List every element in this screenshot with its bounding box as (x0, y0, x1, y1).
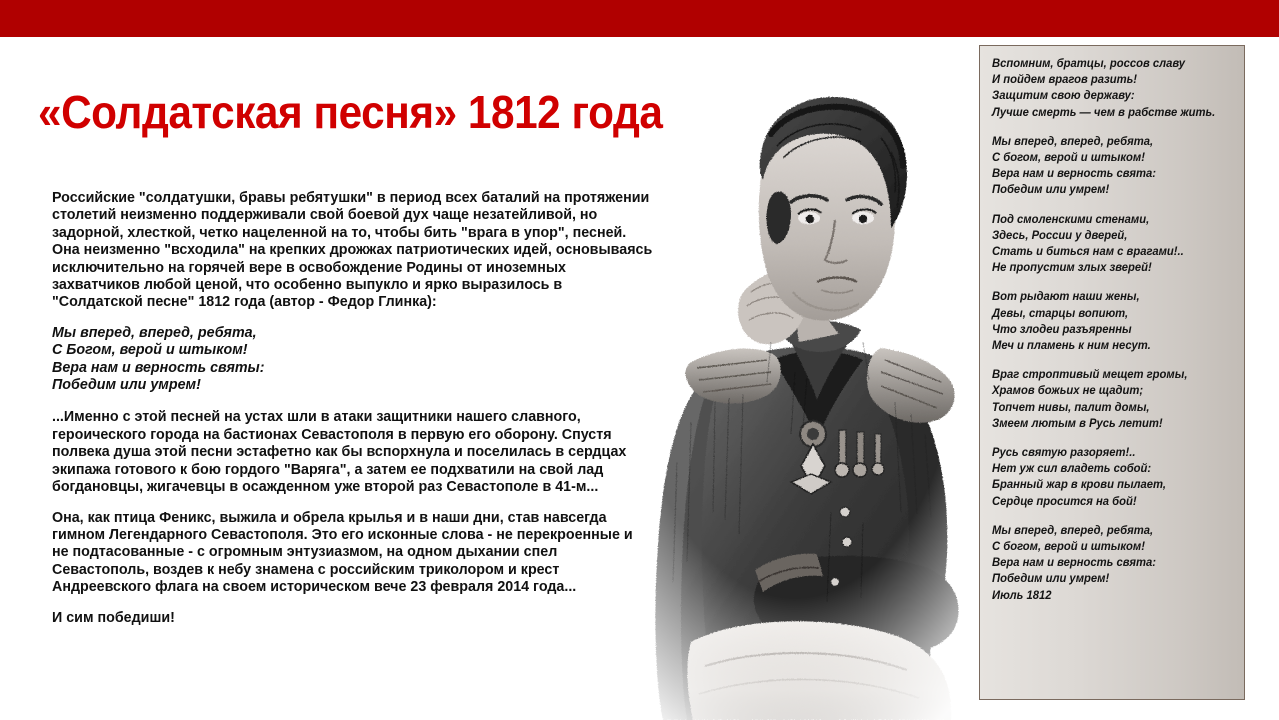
article-paragraph-2: ...Именно с этой песней на устах шли в а… (52, 409, 653, 496)
article-body: Российские "солдатушки, бравы ребятушки"… (52, 190, 653, 627)
poem-stanza: Вспомним, братцы, россов славу И пойдем … (992, 56, 1229, 121)
poem-stanza: Под смоленскими стенами, Здесь, России у… (992, 212, 1229, 277)
poem-stanza: Враг строптивый мещет громы, Храмов божь… (992, 367, 1229, 432)
poem-panel: Вспомним, братцы, россов славу И пойдем … (979, 45, 1245, 700)
poem-stanza: Мы вперед, вперед, ребята, С богом, веро… (992, 134, 1229, 199)
article-paragraph-1: Российские "солдатушки, бравы ребятушки"… (52, 190, 653, 312)
poem-stanza: Вот рыдают наши жены, Девы, старцы вопию… (992, 289, 1229, 354)
article-verse-quote: Мы вперед, вперед, ребята, С Богом, веро… (52, 325, 653, 395)
poem-stanza: Мы вперед, вперед, ребята, С богом, веро… (992, 523, 1229, 604)
slide-canvas: «Солдатская песня» 1812 года Российские … (0, 0, 1279, 720)
article-paragraph-3: Она, как птица Феникс, выжила и обрела к… (52, 510, 653, 597)
portrait-illustration (595, 42, 995, 720)
top-red-banner (0, 0, 1279, 37)
page-title: «Солдатская песня» 1812 года (38, 86, 662, 138)
article-closing-line: И сим победиши! (52, 610, 653, 627)
poem-stanza: Русь святую разоряет!.. Нет уж сил владе… (992, 445, 1229, 510)
